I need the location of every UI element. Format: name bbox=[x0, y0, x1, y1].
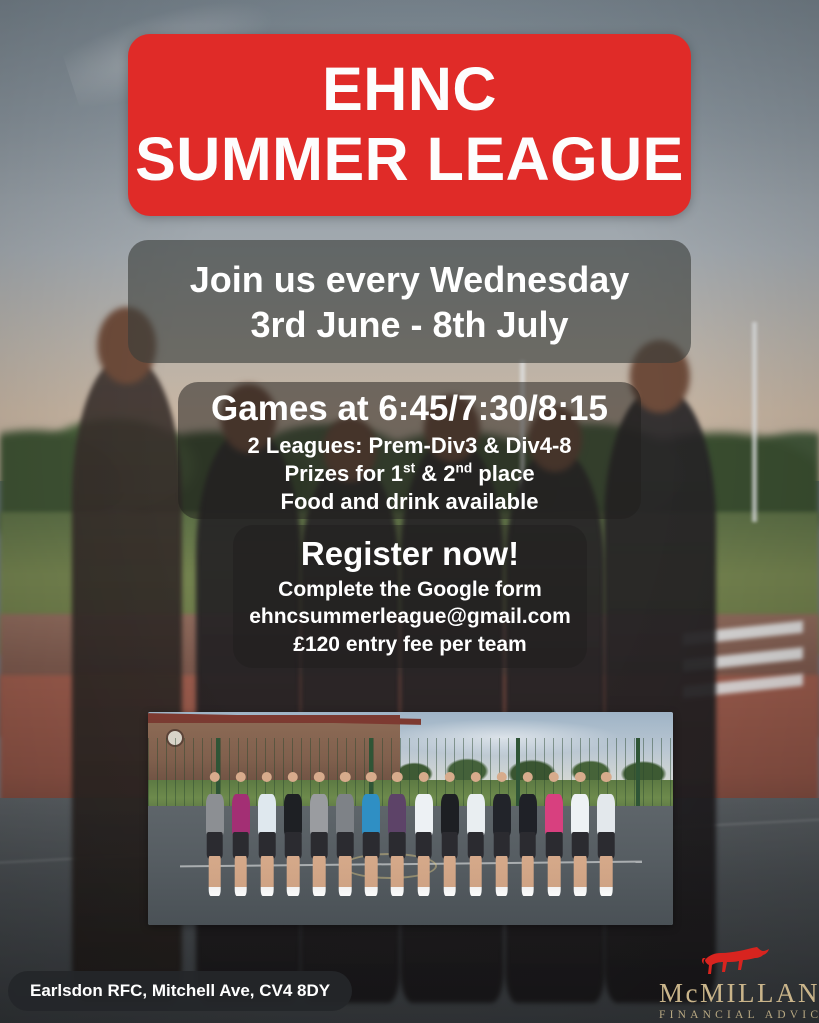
venue-badge: Earlsdon RFC, Mitchell Ave, CV4 8DY bbox=[8, 971, 352, 1011]
games-leagues-line: 2 Leagues: Prem-Div3 & Div4-8 bbox=[247, 432, 571, 460]
team-photo-player bbox=[467, 772, 485, 904]
prizes-sup-first: st bbox=[403, 461, 415, 476]
register-fee-line: £120 entry fee per team bbox=[293, 631, 526, 658]
team-photo-fence-post bbox=[636, 738, 640, 810]
team-photo-player bbox=[310, 772, 328, 904]
schedule-dates-line: 3rd June - 8th July bbox=[250, 302, 568, 347]
lion-icon bbox=[701, 944, 773, 978]
team-photo-player bbox=[336, 772, 354, 904]
team-photo-player bbox=[441, 772, 459, 904]
team-photo-player bbox=[388, 772, 406, 904]
team-photo-player bbox=[597, 772, 615, 904]
title-line-1: EHNC bbox=[322, 55, 497, 125]
team-photo-player bbox=[258, 772, 276, 904]
prizes-text-pre: Prizes for 1 bbox=[284, 461, 403, 486]
poster-canvas: EHNC SUMMER LEAGUE Join us every Wednesd… bbox=[0, 0, 819, 1023]
register-email[interactable]: ehncsummerleague@gmail.com bbox=[249, 603, 571, 630]
register-form-line: Complete the Google form bbox=[278, 576, 542, 603]
register-panel: Register now! Complete the Google form e… bbox=[233, 525, 587, 668]
team-photo-player bbox=[284, 772, 302, 904]
venue-text: Earlsdon RFC, Mitchell Ave, CV4 8DY bbox=[30, 981, 330, 1001]
prizes-sup-second: nd bbox=[456, 461, 473, 476]
team-photo-player bbox=[519, 772, 537, 904]
title-banner: EHNC SUMMER LEAGUE bbox=[128, 34, 691, 216]
prizes-text-post: place bbox=[472, 461, 534, 486]
team-photo-player bbox=[206, 772, 224, 904]
schedule-panel: Join us every Wednesday 3rd June - 8th J… bbox=[128, 240, 691, 363]
team-photo-player bbox=[362, 772, 380, 904]
register-heading: Register now! bbox=[301, 535, 519, 573]
games-prizes-line: Prizes for 1st & 2nd place bbox=[284, 460, 534, 488]
team-photo-player-row bbox=[206, 772, 616, 904]
prizes-text-mid: & 2 bbox=[415, 461, 455, 486]
schedule-day-line: Join us every Wednesday bbox=[190, 257, 630, 302]
games-panel: Games at 6:45/7:30/8:15 2 Leagues: Prem-… bbox=[178, 382, 641, 519]
games-food-line: Food and drink available bbox=[281, 488, 539, 516]
team-photo-player bbox=[493, 772, 511, 904]
team-photo-player bbox=[232, 772, 250, 904]
team-photo bbox=[148, 712, 673, 925]
sponsor-name: McMILLAN bbox=[659, 980, 815, 1007]
team-photo-player bbox=[415, 772, 433, 904]
team-photo-player bbox=[545, 772, 563, 904]
team-photo-player bbox=[571, 772, 589, 904]
title-line-2: SUMMER LEAGUE bbox=[135, 125, 684, 195]
games-times-heading: Games at 6:45/7:30/8:15 bbox=[211, 389, 608, 429]
sponsor-logo: McMILLAN FINANCIAL ADVICE bbox=[659, 944, 815, 1022]
sponsor-tagline: FINANCIAL ADVICE bbox=[659, 1010, 815, 1022]
